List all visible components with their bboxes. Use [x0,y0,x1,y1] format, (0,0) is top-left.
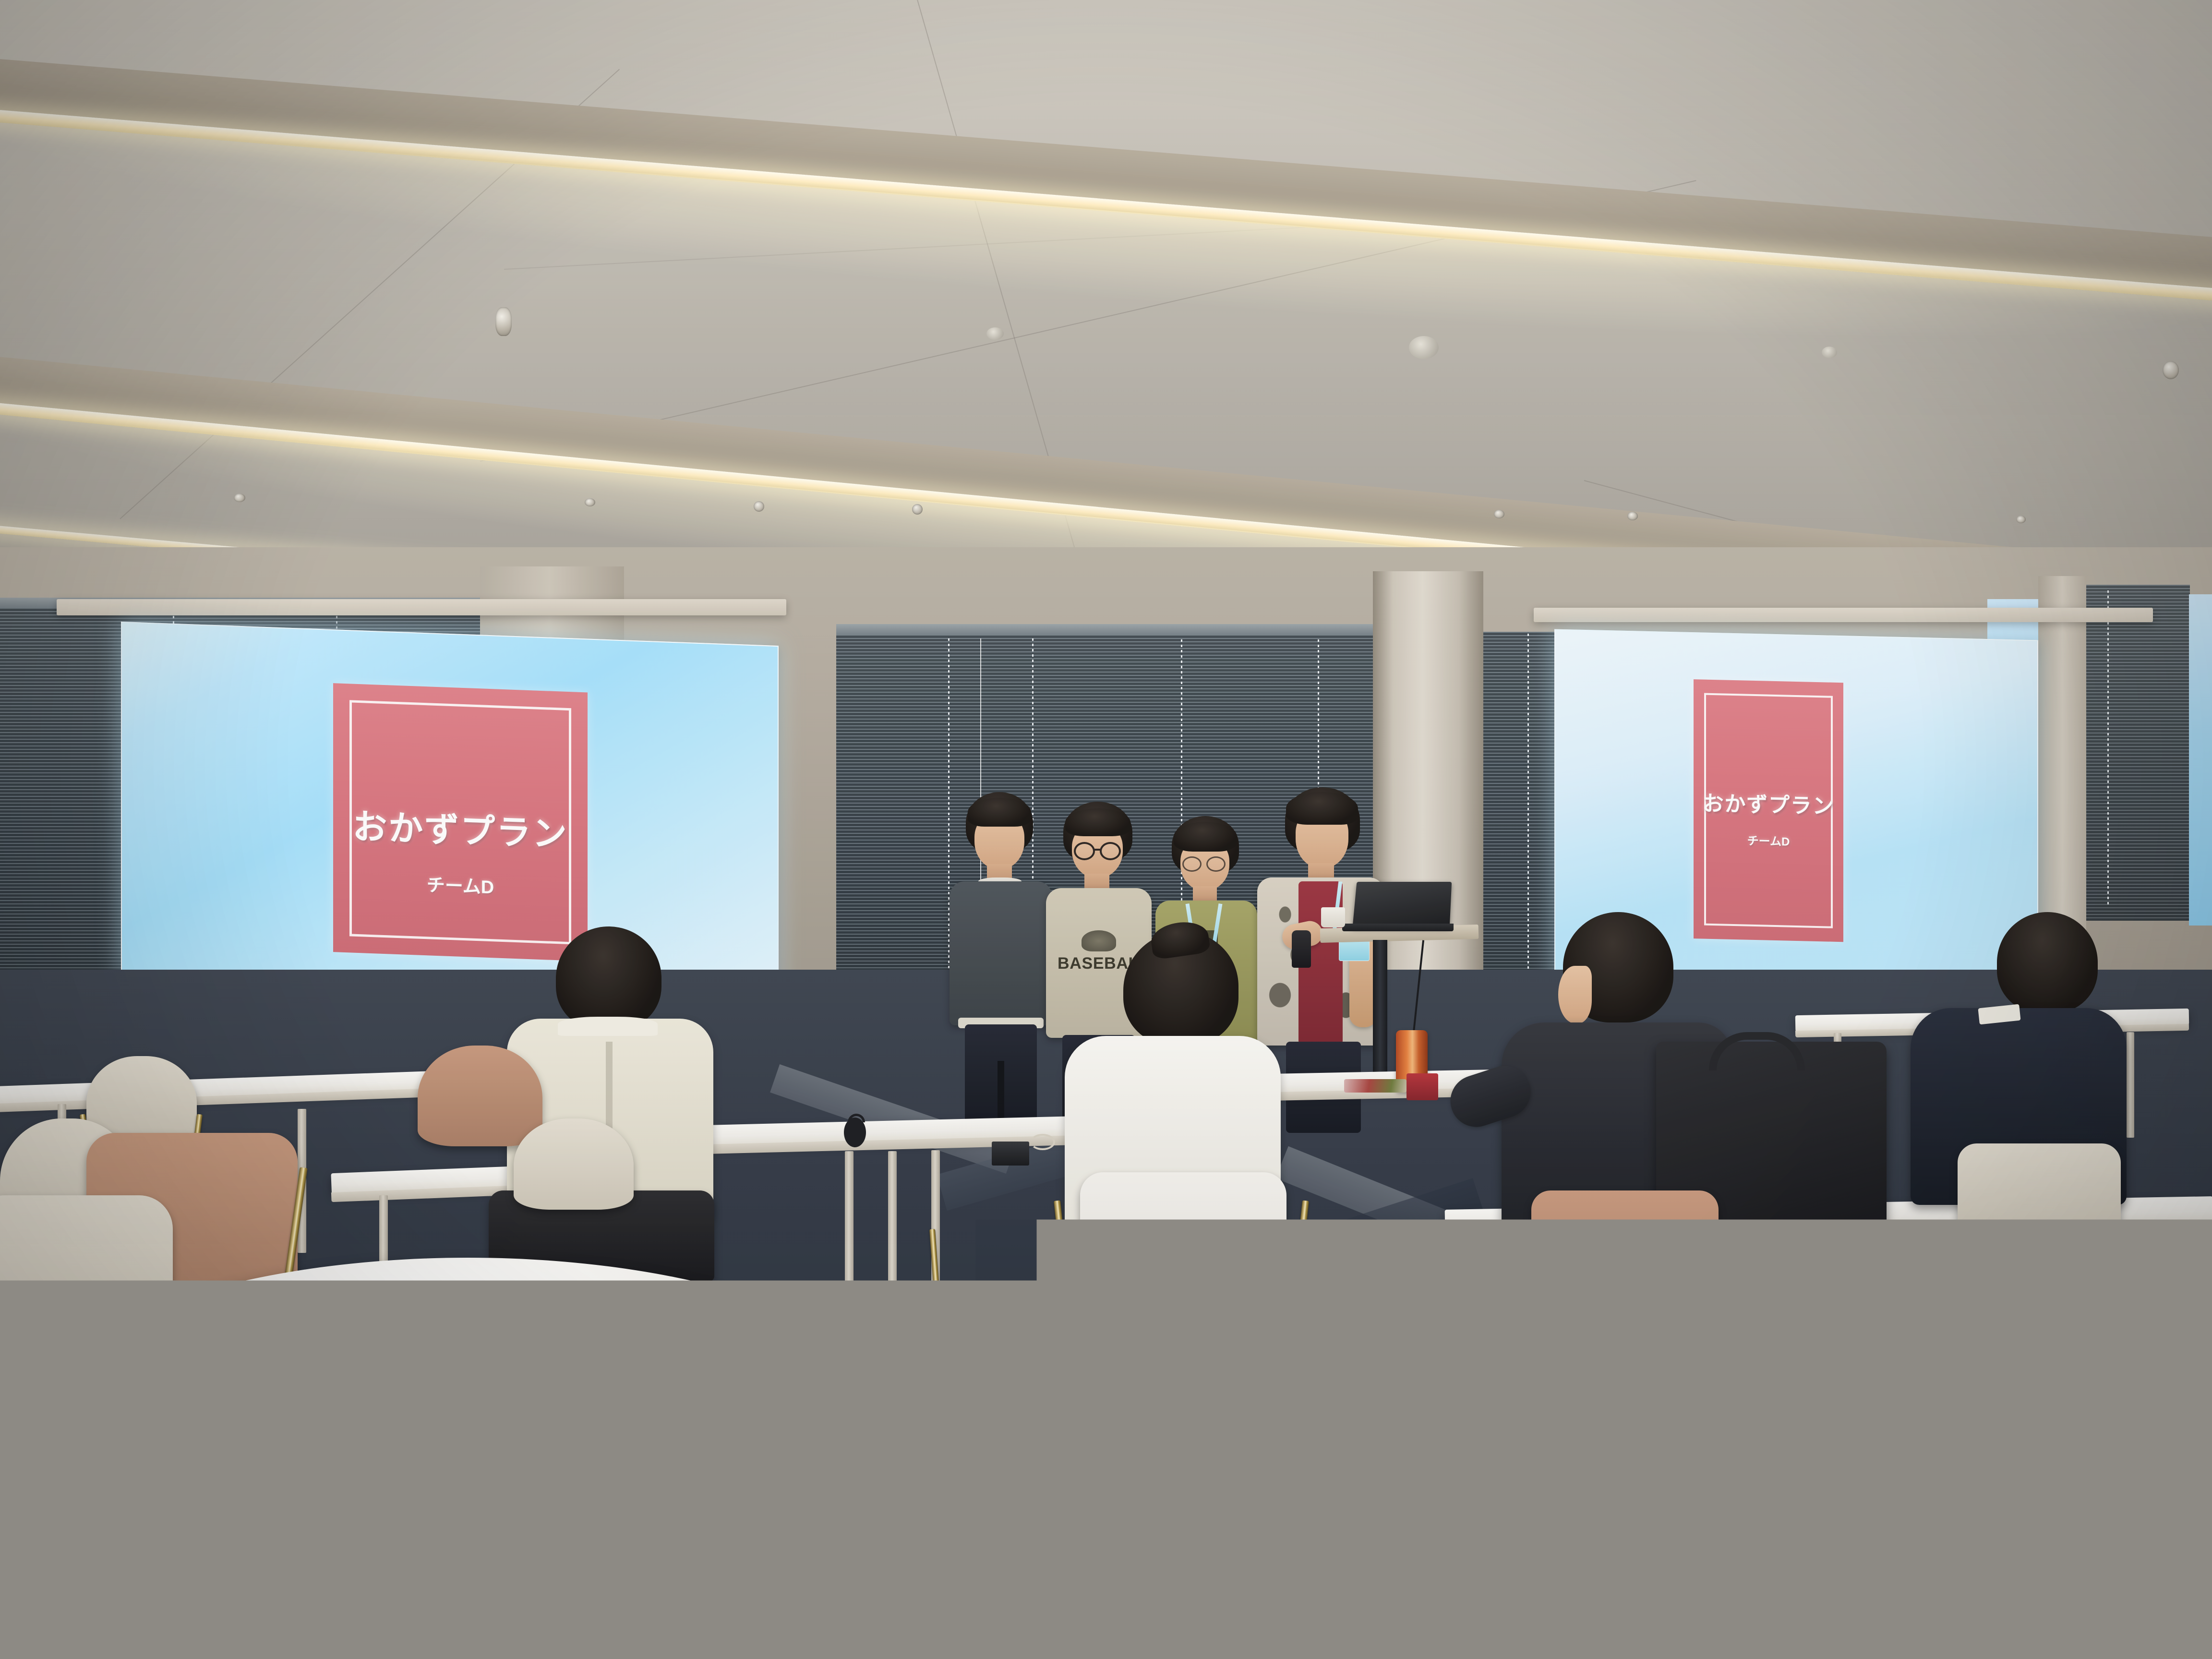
table-caster [1925,1439,1946,1460]
chair-salmon[interactable] [1992,1512,2212,1659]
power-adapter [992,1142,1029,1166]
recessed-spotlight [585,498,595,506]
projector-screen-case-left [57,599,786,615]
table-leg [845,1151,854,1286]
slide-subtitle: チームD [1694,830,1843,850]
tshirt-dark-gray [950,881,1052,1025]
recessed-spotlight [2016,516,2026,523]
sprinkler-head [1409,336,1439,359]
chair-beige[interactable] [1958,1143,2121,1254]
slide-title: おかずプラン [333,797,588,857]
window-corner [2189,594,2212,926]
wall-pier-right [2038,576,2086,931]
blind-cord [2107,590,2109,907]
shirt-collar [558,1017,658,1036]
recessed-spotlight [234,493,245,502]
hair [1997,912,2098,1013]
chair-olive[interactable] [610,1450,1003,1659]
slide-card: おかずプラン チームD [333,683,588,961]
glasses-right-lens [1100,842,1121,860]
glasses-right-lens [1206,856,1226,872]
hair-fringe [1174,822,1237,852]
hair-fringe [968,798,1031,827]
chair-tan[interactable] [418,1046,542,1146]
recessed-spotlight [1627,512,1638,520]
hair-fringe [1286,792,1358,825]
laptop-lid[interactable] [1352,882,1452,927]
slide-card: おかずプラン チームD [1694,679,1843,942]
paper-cup [1321,907,1345,927]
chair-beige[interactable] [2007,1296,2212,1455]
recessed-spotlight [2163,361,2179,379]
recessed-spotlight [1494,510,1504,518]
glasses-bridge [1094,849,1101,851]
oval-table-leg [413,1551,425,1659]
food-snack [1344,1079,1407,1093]
chair-beige[interactable] [1483,1224,1675,1382]
chair-beige[interactable] [514,1118,634,1210]
hair [556,926,661,1030]
chair-beige[interactable] [1018,1291,1162,1483]
table-leg [888,1151,897,1286]
table-caster [1728,1450,1750,1472]
recessed-spotlight [912,504,923,515]
glasses-left-lens [1074,842,1095,860]
window-blinds-far-right [2084,585,2190,921]
recessed-spotlight [754,501,764,512]
chair-caster [878,1291,898,1310]
recessed-spotlight [495,307,512,336]
sprinkler-head [986,327,1004,340]
chair-caster [941,1296,960,1315]
lectern-stem [1373,940,1387,1079]
red-container [1407,1073,1438,1100]
projector-screen-case-right [1534,608,2153,622]
face-profile [1558,966,1592,1023]
meeting-room-photo: おかずプラン チームD おかずプラン チームD [0,0,2212,1659]
hair-fringe [1065,808,1130,836]
slide-title: おかずプラン [1694,786,1843,820]
glasses-left-lens [1182,856,1202,872]
sprinkler-head [1822,347,1837,358]
table-caster [1863,1440,1884,1461]
oval-table-leg [139,1527,151,1659]
chair-salmon[interactable] [1315,1407,1651,1659]
laptop-base[interactable] [1342,924,1454,931]
table-leg [1930,1238,1940,1444]
